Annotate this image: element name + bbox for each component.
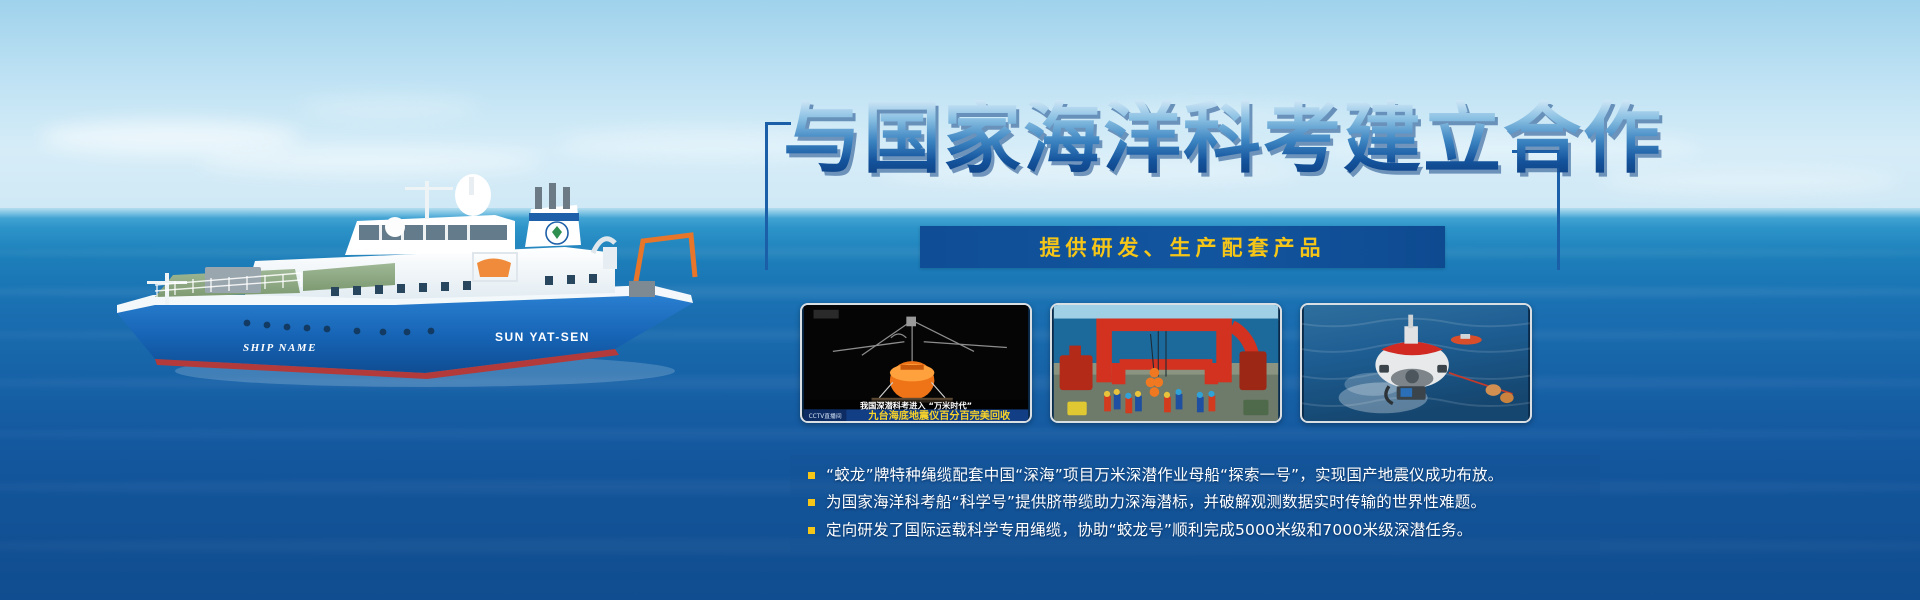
thumb-caption-top: 我国深潜科考进入 “万米时代” — [860, 400, 972, 410]
thumb-deck-crane[interactable] — [1050, 303, 1282, 423]
research-vessel-image: SHIP NAME SUN YAT-SEN — [95, 135, 735, 395]
list-item: 为国家海洋科考船“科学号”提供脐带缆助力深海潜标，并破解观测数据实时传输的世界性… — [804, 491, 1586, 514]
bullet-text: 为国家海洋科考船“科学号”提供脐带缆助力深海潜标，并破解观测数据实时传输的世界性… — [826, 491, 1486, 514]
bullet-text: 定向研发了国际运载科学专用绳缆，协助“蛟龙号”顺利完成5000米级和7000米级… — [826, 519, 1472, 542]
subtitle-text: 提供研发、生产配套产品 — [1040, 232, 1326, 262]
bullet-square-icon — [808, 527, 815, 534]
thumb-news-submersible[interactable]: 我国深潜科考进入 “万米时代” CCTV直播间 九台海底地震仪百分百完美回收 — [800, 303, 1032, 423]
ship-hull-name: SUN YAT-SEN — [495, 330, 590, 344]
bullet-square-icon — [808, 499, 815, 506]
list-item: 定向研发了国际运载科学专用绳缆，协助“蛟龙号”顺利完成5000米级和7000米级… — [804, 519, 1586, 542]
thumb-jiaolong-sub[interactable] — [1300, 303, 1532, 423]
list-item: “蛟龙”牌特种绳缆配套中国“深海”项目万米深潜作业母船“探索一号”，实现国产地震… — [804, 464, 1586, 487]
ship-bow-name: SHIP NAME — [243, 342, 317, 354]
thumb-ticker-text: 九台海底地震仪百分百完美回收 — [867, 409, 1011, 421]
bullet-text: “蛟龙”牌特种绳缆配套中国“深海”项目万米深潜作业母船“探索一号”，实现国产地震… — [826, 464, 1503, 487]
thumb-ticker-tag: CCTV直播间 — [809, 412, 842, 420]
thumbnail-gallery: 我国深潜科考进入 “万米时代” CCTV直播间 九台海底地震仪百分百完美回收 — [800, 303, 1532, 423]
wave-stripe — [0, 428, 1920, 440]
hero-banner: SHIP NAME SUN YAT-SEN 与国家海洋科考建立合作 提供研发、生… — [0, 0, 1920, 600]
page-title: 与国家海洋科考建立合作 — [783, 100, 1663, 178]
feature-bullet-list: “蛟龙”牌特种绳缆配套中国“深海”项目万米深潜作业母船“探索一号”，实现国产地震… — [790, 455, 1600, 552]
a-frame-crane — [635, 235, 695, 287]
bullet-square-icon — [808, 472, 815, 479]
subtitle-banner: 提供研发、生产配套产品 — [920, 226, 1445, 268]
cloud-shape — [300, 96, 480, 118]
